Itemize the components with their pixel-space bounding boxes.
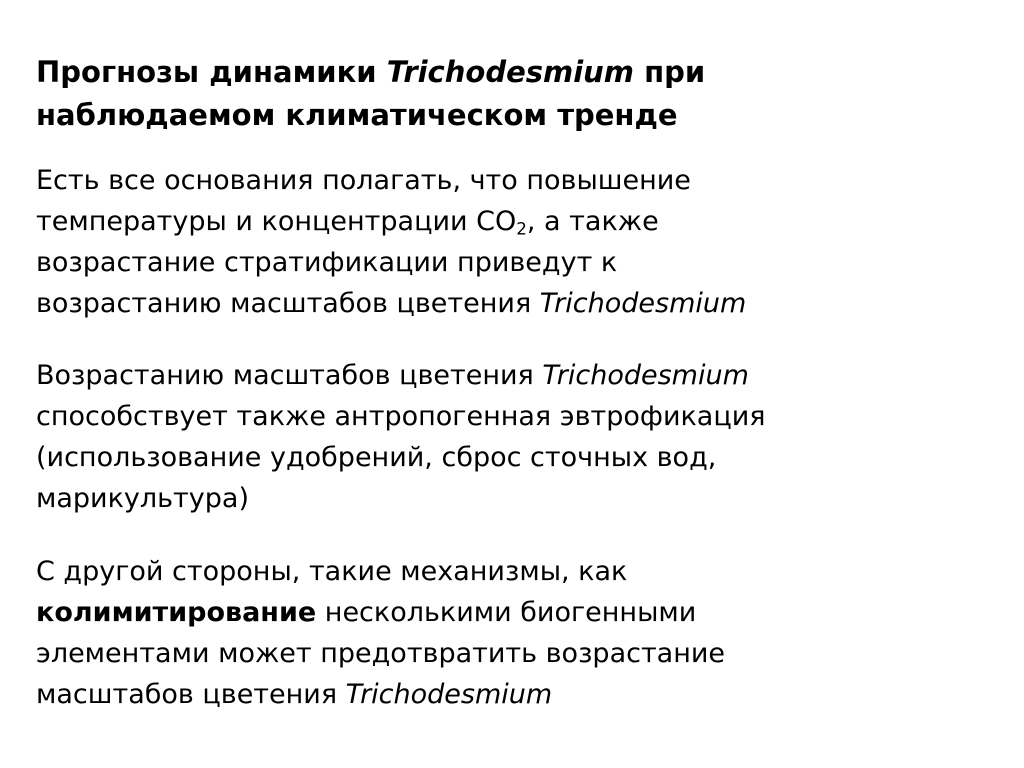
body-paragraph-1: Есть все основания полагать, что повышен… <box>36 160 996 324</box>
paragraph-text: Возрастанию масштабов цветения Trichodes… <box>36 355 996 519</box>
slide-title-line-2: наблюдаемом климатическом тренде <box>36 98 678 132</box>
slide-title-line-1: Прогнозы динамики Trichodesmium при <box>36 55 705 89</box>
species-name-trichodesmium: Trichodesmium <box>542 360 749 391</box>
text-run: (использование удобрений, сброс сточных … <box>36 442 716 473</box>
species-name-trichodesmium: Trichodesmium <box>540 288 747 319</box>
text-run: элементами может предотвратить возрастан… <box>36 638 725 669</box>
slide-title-text-after: при <box>634 55 705 89</box>
text-run: способствует также антропогенная эвтрофи… <box>36 401 766 432</box>
text-run: возрастанию масштабов цветения <box>36 288 540 319</box>
emphasized-term: колимитирование <box>36 597 316 628</box>
species-name-trichodesmium: Trichodesmium <box>387 55 634 89</box>
slide-title-text-before: Прогнозы динамики <box>36 55 387 89</box>
paragraph-line: элементами может предотвратить возрастан… <box>36 633 996 674</box>
text-run: марикультура) <box>36 483 249 514</box>
text-run: Есть все основания полагать, что повышен… <box>36 165 691 196</box>
paragraph-text: С другой стороны, такие механизмы, какко… <box>36 551 996 715</box>
paragraph-line: способствует также антропогенная эвтрофи… <box>36 396 996 437</box>
slide-canvas: Прогнозы динамики Trichodesmium при набл… <box>0 0 1024 768</box>
text-run: С другой стороны, такие механизмы, как <box>36 556 627 587</box>
paragraph-line: (использование удобрений, сброс сточных … <box>36 437 996 478</box>
text-run: масштабов цветения <box>36 679 346 710</box>
text-run: температуры и концентрации CO <box>36 206 516 237</box>
subscript-text: 2 <box>516 219 527 239</box>
slide-title: Прогнозы динамики Trichodesmium при набл… <box>36 51 936 137</box>
paragraph-line: температуры и концентрации CO2, а также <box>36 201 996 242</box>
paragraph-line: С другой стороны, такие механизмы, как <box>36 551 996 592</box>
text-run: возрастание стратификации приведут к <box>36 247 617 278</box>
paragraph-line: Возрастанию масштабов цветения Trichodes… <box>36 355 996 396</box>
text-run: , а также <box>527 206 659 237</box>
species-name-trichodesmium: Trichodesmium <box>346 679 553 710</box>
paragraph-line: возрастание стратификации приведут к <box>36 242 996 283</box>
body-paragraph-2: Возрастанию масштабов цветения Trichodes… <box>36 355 996 519</box>
paragraph-line: марикультура) <box>36 478 996 519</box>
paragraph-text: Есть все основания полагать, что повышен… <box>36 160 996 324</box>
text-run: Возрастанию масштабов цветения <box>36 360 542 391</box>
paragraph-line: колимитирование несколькими биогенными <box>36 592 996 633</box>
paragraph-line: масштабов цветения Trichodesmium <box>36 674 996 715</box>
paragraph-line: возрастанию масштабов цветения Trichodes… <box>36 283 996 324</box>
body-paragraph-3: С другой стороны, такие механизмы, какко… <box>36 551 996 715</box>
paragraph-line: Есть все основания полагать, что повышен… <box>36 160 996 201</box>
text-run: несколькими биогенными <box>316 597 696 628</box>
